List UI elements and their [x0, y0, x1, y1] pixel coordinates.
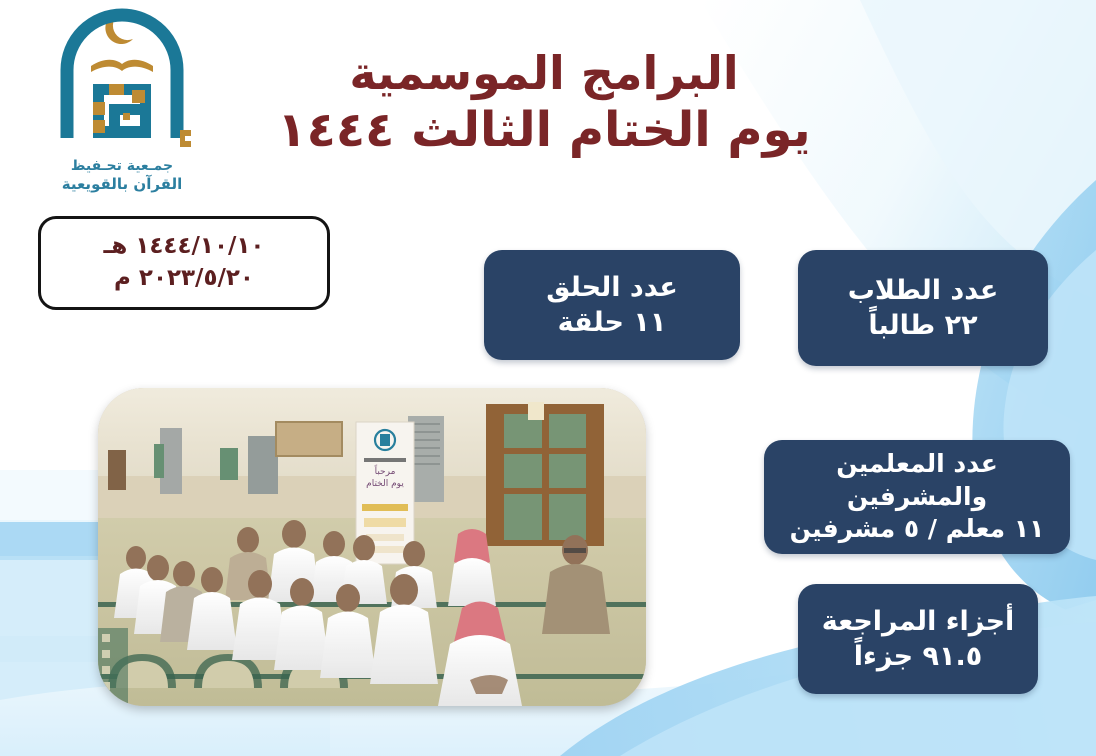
- stat-box-teachers: عدد المعلمين والمشرفين ١١ معلم / ٥ مشرفي…: [764, 440, 1070, 554]
- stat-label-students: عدد الطلاب: [848, 273, 999, 308]
- date-hijri: ١٤٤٤/١٠/١٠ هـ: [104, 231, 265, 263]
- poster-root: جمـعية تحـفيظ القرآن بالقويعية البرامج ا…: [0, 0, 1096, 756]
- event-photo: مرحباً يوم الختام: [98, 388, 646, 706]
- stat-box-students: عدد الطلاب ٢٢ طالباً: [798, 250, 1048, 366]
- title-line-2: يوم الختام الثالث ١٤٤٤: [244, 102, 844, 159]
- stat-value-teachers: ١١ معلم / ٥ مشرفين: [790, 513, 1045, 546]
- stat-value-halaqat: ١١ حلقة: [558, 305, 667, 340]
- logo-text-line2: القرآن بالقويعية: [22, 175, 222, 193]
- page-title: البرامج الموسمية يوم الختام الثالث ١٤٤٤: [244, 48, 844, 158]
- title-line-1: البرامج الموسمية: [244, 48, 844, 100]
- stat-value-students: ٢٢ طالباً: [868, 308, 977, 343]
- stat-label-teachers: عدد المعلمين والمشرفين: [774, 448, 1060, 513]
- logo-wordmark: جمـعية تحـفيظ القرآن بالقويعية: [22, 158, 222, 193]
- stat-label-halaqat: عدد الحلق: [546, 270, 678, 305]
- date-card: ١٤٤٤/١٠/١٠ هـ ٢٠٢٣/٥/٢٠ م: [38, 216, 330, 310]
- date-gregorian: ٢٠٢٣/٥/٢٠ م: [114, 263, 254, 295]
- stat-box-halaqat: عدد الحلق ١١ حلقة: [484, 250, 740, 360]
- logo-text-line1: جمـعية تحـفيظ: [22, 158, 222, 175]
- stat-label-review-parts: أجزاء المراجعة: [822, 604, 1015, 639]
- event-photo-illustration: مرحباً يوم الختام: [98, 388, 646, 706]
- stat-value-review-parts: ٩١.٥ جزءاً: [854, 639, 982, 674]
- stat-box-review-parts: أجزاء المراجعة ٩١.٥ جزءاً: [798, 584, 1038, 694]
- mosque-arch-crescent-book-icon: [47, 8, 197, 154]
- society-logo: جمـعية تحـفيظ القرآن بالقويعية: [22, 8, 222, 193]
